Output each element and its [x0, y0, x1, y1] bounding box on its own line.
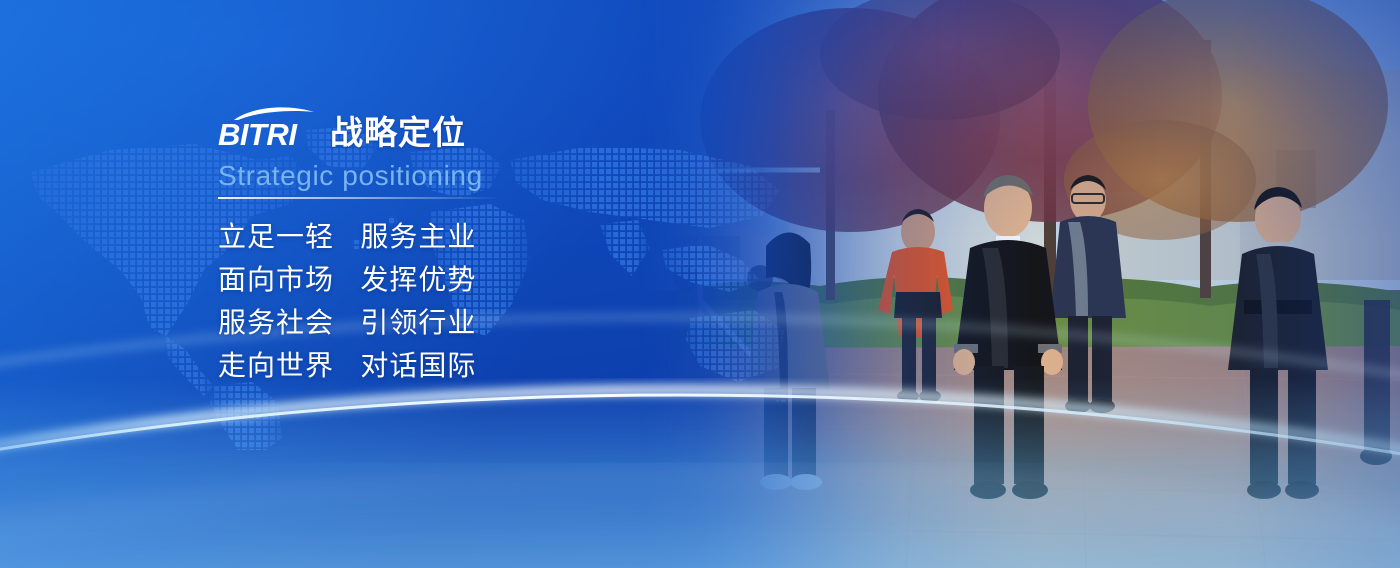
bitri-wordmark: BITRI [218, 119, 296, 150]
brand-subtitle-en: Strategic positioning [218, 161, 778, 190]
slogan-line: 立足一轻 服务主业 [218, 215, 778, 258]
title-divider [218, 197, 500, 199]
slogan-line: 服务社会 引领行业 [218, 301, 778, 344]
brand-row: BITRI 战略定位 [218, 104, 778, 150]
slogan-line: 走向世界 对话国际 [218, 344, 778, 387]
slogan-list: 立足一轻 服务主业 面向市场 发挥优势 服务社会 引领行业 走向世界 对话国际 [218, 215, 778, 387]
bitri-logo: BITRI [218, 106, 316, 150]
banner-content: BITRI 战略定位 Strategic positioning 立足一轻 服务… [218, 104, 778, 387]
slogan-line: 面向市场 发挥优势 [218, 258, 778, 301]
brand-title-cn: 战略定位 [330, 116, 466, 150]
strategic-positioning-banner: BITRI 战略定位 Strategic positioning 立足一轻 服务… [0, 0, 1400, 568]
